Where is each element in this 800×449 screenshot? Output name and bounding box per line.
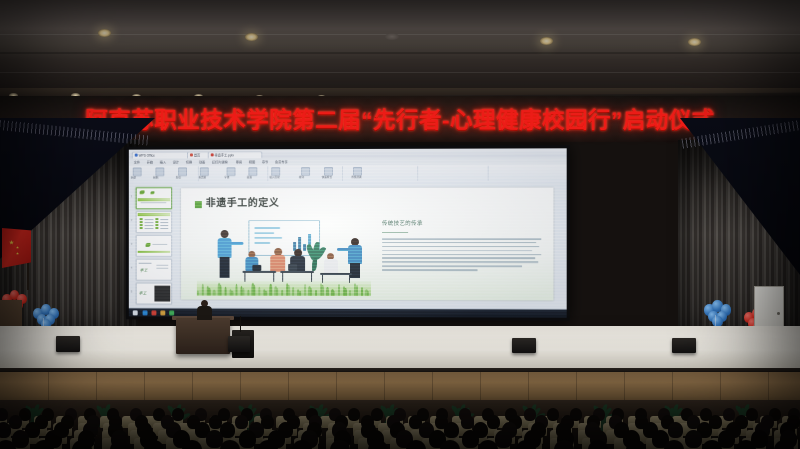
ribbon-label-2: 粘贴: [153, 176, 158, 179]
grass-blade: [258, 287, 260, 296]
grass-blade: [310, 288, 312, 296]
slide-body-line-5: [382, 254, 541, 256]
thumb-line: [152, 244, 167, 245]
ribbon-icon-8[interactable]: [301, 167, 310, 176]
grass-blade: [270, 284, 272, 296]
grass-blade: [247, 290, 249, 296]
thumb-row-block: [140, 218, 143, 220]
thumb-row-line: [145, 219, 154, 220]
app-workspace: 1234手工5手工 非遗手工的定义 传统技艺的传承: [129, 183, 567, 309]
thumb-row-line-2: [160, 225, 168, 226]
grass-blade: [287, 285, 289, 296]
ribbon-label-6: 段落: [247, 176, 252, 179]
ribbon-separator-4: [417, 166, 418, 181]
speaker-table: [176, 318, 230, 354]
ribbon-toolbar[interactable]: [129, 164, 567, 184]
thumb-line: [141, 202, 167, 203]
ribbon-tab-9[interactable]: 视图: [249, 159, 255, 165]
slide-thumbnail-4[interactable]: 手工: [136, 259, 172, 281]
monitor-speaker-4: [672, 338, 696, 353]
slide-title-bullet-icon: [195, 201, 202, 208]
grass-blade: [265, 291, 267, 296]
ribbon-tab-6[interactable]: 动画: [199, 159, 205, 165]
ribbon-icon-4[interactable]: [200, 167, 209, 176]
ceiling-seam-1: [0, 34, 800, 35]
ribbon-tab-3[interactable]: 插入: [160, 159, 166, 165]
monitor-speaker-2: [228, 336, 250, 352]
ceiling-seam-3: [0, 72, 800, 73]
grass-blade: [361, 287, 363, 296]
led-screen-display[interactable]: WPS Office首页非遗手工.pptx 文件开始插入设计切换动画幻灯片放映审…: [129, 148, 567, 317]
ribbon-label-7: 插入形状: [269, 176, 279, 179]
ribbon-label-4: 格式刷: [198, 176, 206, 179]
grass-blade: [356, 285, 358, 296]
grass-blade: [299, 291, 301, 296]
slide-subtitle: 传统技艺的传承: [382, 221, 423, 228]
thumb-line: [139, 263, 152, 264]
cabinet-handle-icon: [777, 312, 780, 315]
wps-icon[interactable]: [151, 310, 156, 315]
led-screen-frame: WPS Office首页非遗手工.pptx 文件开始插入设计切换动画幻灯片放映审…: [126, 145, 570, 320]
folder-icon[interactable]: [160, 310, 165, 315]
ribbon-icon-7[interactable]: [271, 167, 280, 176]
thumb-line-2: [156, 265, 168, 266]
thumbnail-number-5: 5: [131, 291, 132, 294]
ribbon-label-9: 快速样式: [322, 176, 332, 179]
thumb-row-block-2: [155, 218, 158, 220]
seated-presenter: [196, 300, 213, 320]
thumbnail-number-1: 1: [131, 195, 132, 198]
slide-thumbnail-1[interactable]: [136, 187, 172, 209]
ribbon-separator-2: [267, 166, 268, 181]
grass-blade: [224, 287, 226, 296]
thumbnail-number-4: 4: [131, 267, 132, 270]
thumb-header-bar: [138, 213, 171, 216]
ribbon-separator-1: [198, 166, 199, 181]
thumb-leaf-icon-2: [150, 191, 154, 194]
ribbon-label-3: 剪切: [176, 176, 181, 179]
downlight-icon-3: [540, 37, 553, 45]
downlight-icon-1: [98, 29, 111, 37]
ceiling: [0, 0, 800, 96]
grass-blade: [213, 290, 215, 296]
ribbon-icon-5[interactable]: [226, 167, 235, 176]
grass-blade: [321, 285, 323, 296]
slide-thumbnail-3[interactable]: [136, 235, 172, 257]
grass-blade: [231, 291, 233, 296]
subtitle-rule: [382, 232, 408, 233]
slide-body-line-2: [382, 242, 536, 244]
thumb-row-line-2: [160, 219, 168, 220]
grass-blade: [281, 290, 283, 296]
thumb-script-text: 手工: [139, 292, 147, 296]
chinese-flag-icon: [2, 228, 31, 268]
ribbon-icon-9[interactable]: [324, 167, 333, 176]
grass-blade: [315, 290, 317, 296]
ribbon-tab-11[interactable]: 会员专享: [275, 159, 288, 165]
grass-blade: [304, 284, 306, 296]
audience-shadow-overlay: [0, 400, 800, 449]
ribbon-separator-5: [488, 166, 489, 181]
downlight-icon-2: [245, 33, 258, 41]
slide-body-line-3: [382, 246, 540, 248]
auditorium-screenshot: 阿克苏职业技术学院第二届“先行者-心理健康校园行”启动仪式 WPS Office…: [0, 0, 800, 449]
ribbon-tab-1[interactable]: 文件: [134, 159, 140, 165]
grass-blade: [292, 287, 294, 296]
grass-blade: [242, 288, 244, 296]
thumb-image-block: [154, 286, 170, 302]
thumb-green-bar: [138, 198, 171, 201]
tab-dot-icon: [211, 154, 214, 157]
thumb-green-bar: [138, 251, 171, 253]
grass-blade: [344, 288, 346, 296]
grass-blade: [276, 288, 278, 296]
grass-blade: [208, 288, 210, 296]
thumb-row-block: [140, 227, 143, 229]
ribbon-tab-4[interactable]: 设计: [173, 159, 179, 165]
grass-border: [197, 280, 371, 296]
slide-title: 非遗手工的定义: [206, 198, 280, 210]
thumbnail-number-3: 3: [131, 243, 132, 246]
chat-icon[interactable]: [169, 310, 174, 315]
ceiling-seam-2: [0, 52, 800, 54]
grass-blade: [219, 285, 221, 296]
ribbon-label-10: 查找替换: [351, 176, 361, 179]
grass-blade: [326, 287, 328, 296]
ribbon-icon-3[interactable]: [178, 167, 187, 176]
grass-blade: [253, 285, 255, 296]
slide-body-line-8: [382, 265, 522, 267]
slide-body-line-1: [382, 238, 541, 240]
thumbnail-number-2: 2: [131, 219, 132, 222]
ribbon-tab-10[interactable]: 章节: [262, 159, 268, 165]
thumb-row-block-2: [155, 224, 158, 226]
grass-blade: [349, 290, 351, 296]
tab-dot-icon: [135, 154, 138, 157]
slide-body-line-4: [382, 250, 532, 252]
mic-stand: [240, 316, 241, 332]
thumb-row-block-2: [155, 221, 158, 223]
windows-start-icon[interactable]: [133, 310, 138, 315]
ribbon-separator-3: [342, 166, 343, 181]
ceiling-vent-icon: [385, 33, 399, 40]
presenter-body: [197, 306, 212, 320]
ribbon-tab-8[interactable]: 审阅: [236, 159, 242, 165]
thumb-row-block-2: [155, 227, 158, 229]
thumb-leaf-icon: [146, 243, 151, 247]
ribbon-label-1: 新建: [131, 176, 136, 179]
current-slide[interactable]: 非遗手工的定义 传统技艺的传承: [181, 188, 553, 301]
grass-blade: [367, 291, 369, 296]
slide-body-text: [382, 238, 541, 273]
ribbon-label-5: 字体: [224, 176, 229, 179]
thumb-row-line: [145, 222, 154, 223]
slide-thumbnail-5[interactable]: 手工: [136, 283, 172, 305]
thumb-line-3: [156, 268, 168, 269]
slide-thumbnail-2[interactable]: [136, 211, 172, 233]
monitor-speaker-3: [512, 338, 536, 353]
grass-blade: [197, 291, 199, 296]
grass-blade: [333, 291, 335, 296]
ribbon-icon-10[interactable]: [353, 167, 362, 176]
slide-thumbnail-pane[interactable]: 1234手工5手工: [129, 183, 173, 307]
slide-edit-area[interactable]: 非遗手工的定义 传统技艺的传承: [172, 183, 567, 309]
thumb-row-block: [140, 221, 143, 223]
tab-dot-icon: [190, 154, 193, 157]
ribbon-icon-6[interactable]: [249, 167, 258, 176]
ribbon-tab-5[interactable]: 切换: [186, 159, 192, 165]
downlight-icon-4: [688, 38, 701, 46]
thumb-row-line-2: [160, 228, 168, 229]
thumb-row-line: [145, 225, 154, 226]
thumb-script-text: 手工: [140, 269, 148, 273]
taskbar-pinned-icons[interactable]: [129, 308, 567, 309]
monitor-speaker-1: [56, 336, 80, 352]
edge-icon[interactable]: [143, 310, 148, 315]
thumb-row-block: [140, 224, 143, 226]
grass-blade: [236, 284, 238, 296]
slide-body-line-6: [382, 257, 535, 259]
grass-blade: [338, 284, 340, 296]
ribbon-icon-1[interactable]: [133, 167, 142, 176]
thumb-row-line: [145, 228, 154, 229]
slide-body-line-7: [382, 261, 538, 263]
ribbon-label-8: 排列: [299, 176, 304, 179]
slide-illustration: [197, 218, 371, 296]
grass-blade: [202, 284, 204, 296]
slide-body-line-9: [382, 269, 477, 271]
thumb-leaf-icon: [140, 190, 145, 194]
ribbon-tab-2[interactable]: 开始: [147, 159, 153, 165]
ribbon-tab-7[interactable]: 幻灯片放映: [212, 159, 228, 165]
ribbon-icon-2[interactable]: [155, 167, 164, 176]
thumb-row-line-2: [160, 222, 168, 223]
